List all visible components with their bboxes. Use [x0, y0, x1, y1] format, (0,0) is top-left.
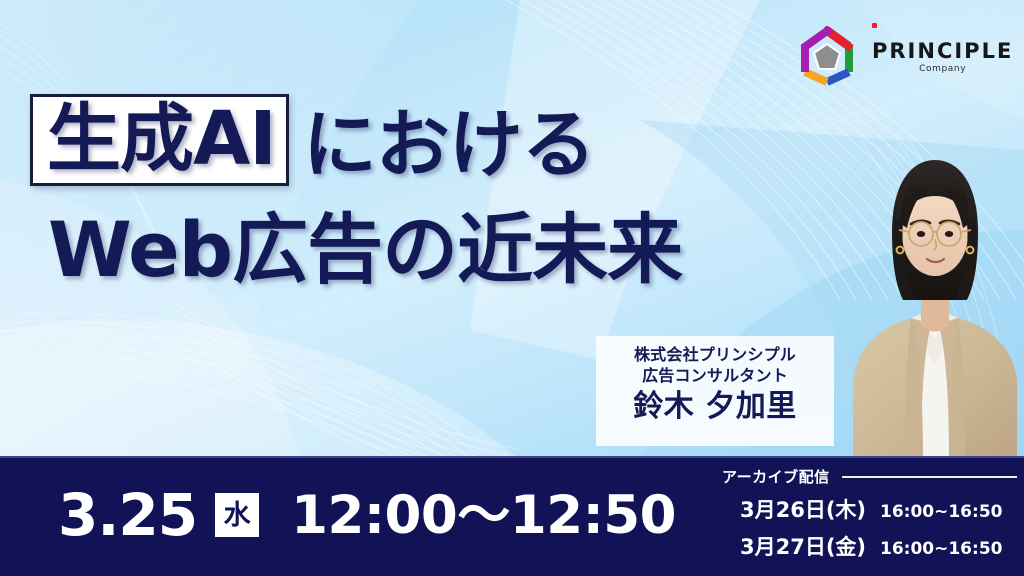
webinar-poster: PRINCIPLE Company 生成AI における Web広告の近未来 株式… [0, 0, 1024, 576]
archive-divider [842, 476, 1017, 478]
archive-section: アーカイブ配信 3月26日(木) 16:00~16:50 3月27日(金) 16… [722, 466, 1017, 561]
archive-date: 3月26日(木) [740, 494, 868, 524]
speaker-name: 鈴木 夕加里 [596, 390, 834, 423]
session-time: 12:00〜12:50 [291, 489, 676, 542]
archive-session-row: 3月26日(木) 16:00~16:50 [722, 494, 1017, 524]
brand-subtitle: Company [872, 65, 1013, 74]
pentagon-logo-icon [796, 26, 858, 86]
speaker-company: 株式会社プリンシプル [596, 344, 834, 365]
title-line-1: 生成AI における [30, 78, 830, 186]
archive-date: 3月27日(金) [740, 531, 868, 561]
speaker-portrait-illustration [845, 128, 1024, 458]
speaker-role: 広告コンサルタント [596, 365, 834, 386]
title-line1-rest: における [289, 108, 595, 186]
archive-heading-row: アーカイブ配信 [722, 466, 1017, 487]
brand-name: PRINCIPLE [872, 41, 1013, 62]
brand-accent-dot-icon [872, 23, 877, 28]
primary-session: 3.25 水 12:00〜12:50 [58, 486, 676, 544]
speaker-name-card: 株式会社プリンシプル 広告コンサルタント 鈴木 夕加里 [596, 336, 834, 446]
archive-time: 16:00~16:50 [880, 502, 1002, 522]
title-line-2: Web広告の近未来 [30, 184, 830, 290]
title-highlight-text: 生成AI [47, 102, 276, 176]
brand-logo-text: PRINCIPLE Company [872, 38, 1013, 74]
archive-session-row: 3月27日(金) 16:00~16:50 [722, 531, 1017, 561]
brand-logo: PRINCIPLE Company [796, 26, 1013, 86]
title-highlight-box: 生成AI [30, 94, 289, 186]
session-date: 3.25 [58, 486, 197, 544]
title-line2-text: Web広告の近未来 [48, 212, 682, 290]
page-title: 生成AI における Web広告の近未来 [30, 78, 830, 290]
session-day-of-week-badge: 水 [215, 493, 259, 537]
archive-time: 16:00~16:50 [880, 539, 1002, 559]
speaker-photo [845, 128, 1024, 458]
archive-heading: アーカイブ配信 [722, 466, 830, 487]
schedule-bar: 3.25 水 12:00〜12:50 アーカイブ配信 3月26日(木) 16:0… [0, 456, 1024, 576]
